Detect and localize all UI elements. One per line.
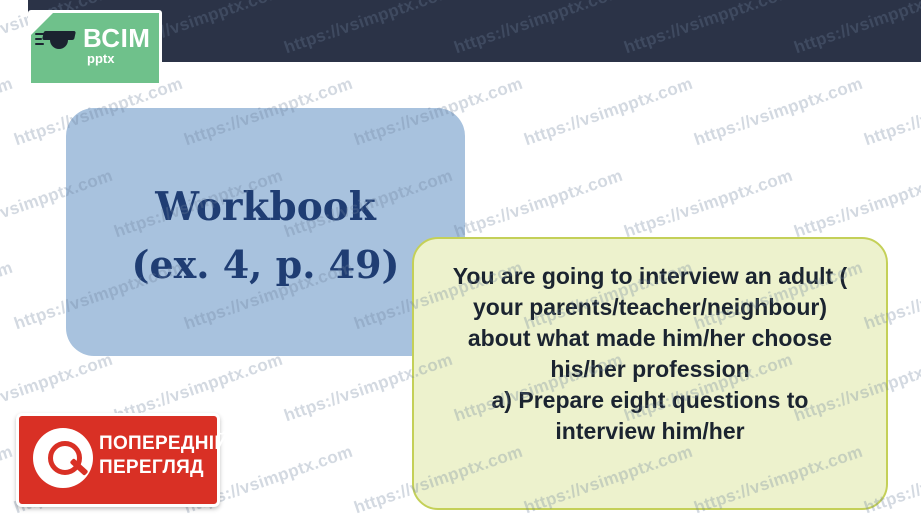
watermark-text: https://vsimpptx.com <box>692 74 866 151</box>
workbook-title-line1: Workbook <box>66 184 465 230</box>
task-line-4: his/her profession <box>432 354 868 385</box>
workbook-title-line2: (ex. 4, p. 49) <box>66 242 465 287</box>
preview-stamp-line2: ПЕРЕГЛЯД <box>99 456 211 480</box>
task-line-6: interview him/her <box>432 416 868 447</box>
watermark-text: https://vsimpptx.com <box>622 166 796 243</box>
task-text: You are going to interview an adult ( yo… <box>432 261 868 447</box>
logo-suffix: pptx <box>87 51 114 66</box>
preview-stamp-line1: ПОПЕРЕДНІЙ <box>99 432 211 456</box>
site-logo[interactable]: ВСІМ pptx <box>28 10 162 86</box>
watermark-text: https://vsimpptx.com <box>862 74 921 151</box>
workbook-title-card: Workbook (ex. 4, p. 49) <box>66 108 465 356</box>
logo-name: ВСІМ <box>83 23 150 54</box>
preview-stamp[interactable]: ПОПЕРЕДНІЙ ПЕРЕГЛЯД <box>16 413 220 507</box>
graduation-cap-icon <box>43 29 77 51</box>
logo-lines-icon <box>35 33 45 47</box>
bottom-margin-strip <box>0 510 921 518</box>
magnifier-icon <box>33 428 93 488</box>
task-line-3: about what made him/her choose <box>432 323 868 354</box>
task-line-5: a) Prepare eight questions to <box>432 385 868 416</box>
task-line-1: You are going to interview an adult ( <box>432 261 868 292</box>
watermark-text: https://vsimpptx.com <box>522 74 696 151</box>
slide: Workbook Workbook (ex. 4, p. 49) You are… <box>0 0 921 518</box>
preview-stamp-text: ПОПЕРЕДНІЙ ПЕРЕГЛЯД <box>99 432 211 481</box>
watermark-text: https://vsimpptx.com <box>452 166 626 243</box>
task-line-2: your parents/teacher/neighbour) <box>432 292 868 323</box>
watermark-text: https://vsimpptx.com <box>792 166 921 243</box>
task-card: You are going to interview an adult ( yo… <box>412 237 888 510</box>
